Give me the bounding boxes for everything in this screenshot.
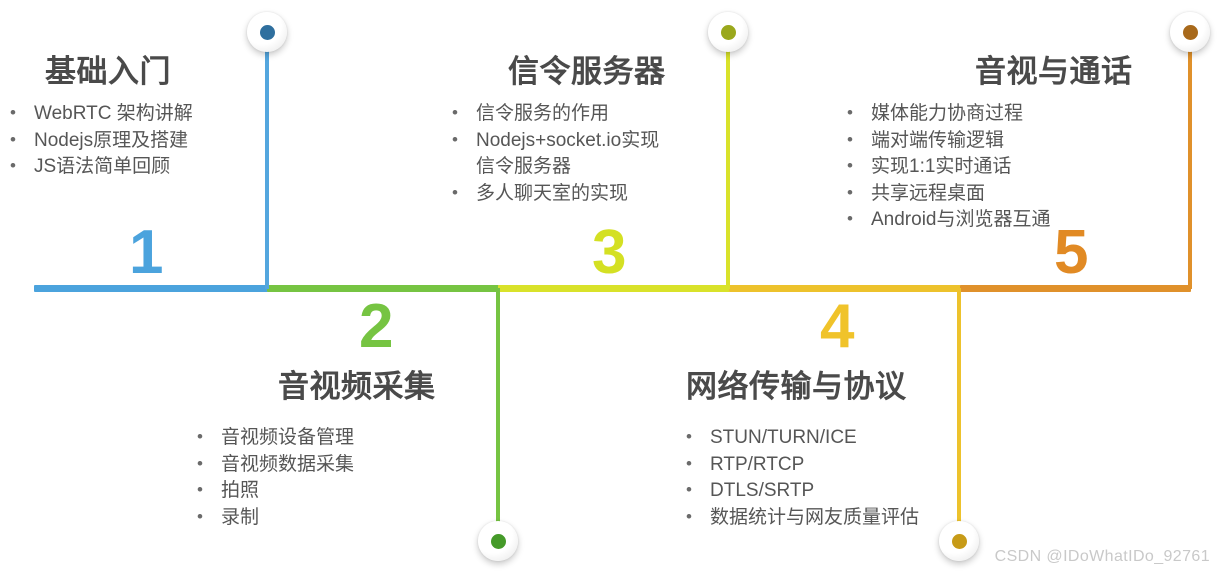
stage-title-2: 音视频采集 (278, 361, 436, 406)
connector-line-4 (957, 288, 961, 531)
stage-number-5: 5 (1054, 222, 1088, 284)
bullet-item: 音视频数据采集 (195, 452, 354, 479)
timeline-infographic: 基础入门 WebRTC 架构讲解 Nodejs原理及搭建 JS语法简单回顾 1 … (0, 0, 1218, 572)
bullet-item: WebRTC 架构讲解 (8, 101, 193, 128)
node-marker-1[interactable] (247, 12, 287, 52)
bullet-item: RTP/RTCP (684, 452, 919, 479)
connector-line-1 (265, 42, 269, 289)
node-marker-4[interactable] (939, 521, 979, 561)
bullet-item-continuation: 信令服务器 (450, 154, 659, 181)
bullet-item: 媒体能力协商过程 (845, 101, 1051, 128)
stage-title-5: 音视与通话 (975, 46, 1133, 91)
stage-bullets-2: 音视频设备管理 音视频数据采集 拍照 录制 (195, 425, 354, 531)
bullet-item: Nodejs+socket.io实现 (450, 128, 659, 155)
node-dot-5 (1183, 25, 1198, 40)
stage-number-4: 4 (820, 296, 854, 358)
bullet-item: 实现1:1实时通话 (845, 154, 1051, 181)
stage-title-3: 信令服务器 (508, 46, 666, 91)
bullet-item: STUN/TURN/ICE (684, 425, 919, 452)
stage-bullets-1: WebRTC 架构讲解 Nodejs原理及搭建 JS语法简单回顾 (8, 101, 193, 181)
watermark-text: CSDN @IDoWhatIDo_92761 (995, 548, 1210, 566)
bullet-item: Android与浏览器互通 (845, 207, 1051, 234)
bullet-item: Nodejs原理及搭建 (8, 128, 193, 155)
stage-bullets-5: 媒体能力协商过程 端对端传输逻辑 实现1:1实时通话 共享远程桌面 Androi… (845, 101, 1051, 234)
node-dot-2 (491, 534, 506, 549)
bullet-item: 数据统计与网友质量评估 (684, 505, 919, 532)
stage-bullets-4: STUN/TURN/ICE RTP/RTCP DTLS/SRTP 数据统计与网友… (684, 425, 919, 531)
bullet-item: JS语法简单回顾 (8, 154, 193, 181)
axis-segment-4 (729, 285, 961, 292)
bullet-item: 端对端传输逻辑 (845, 128, 1051, 155)
node-marker-2[interactable] (478, 521, 518, 561)
stage-number-2: 2 (359, 296, 393, 358)
stage-title-4: 网络传输与协议 (686, 361, 907, 406)
bullet-item: 多人聊天室的实现 (450, 181, 659, 208)
axis-segment-2 (267, 285, 499, 292)
stage-number-1: 1 (129, 222, 163, 284)
node-marker-3[interactable] (708, 12, 748, 52)
bullet-item: DTLS/SRTP (684, 478, 919, 505)
bullet-item: 音视频设备管理 (195, 425, 354, 452)
bullet-item: 共享远程桌面 (845, 181, 1051, 208)
connector-line-5 (1188, 42, 1192, 289)
stage-bullets-3: 信令服务的作用 Nodejs+socket.io实现 信令服务器 多人聊天室的实… (450, 101, 659, 207)
node-dot-3 (721, 25, 736, 40)
stage-title-1: 基础入门 (45, 46, 171, 91)
connector-line-2 (496, 288, 500, 531)
bullet-item: 信令服务的作用 (450, 101, 659, 128)
stage-number-3: 3 (592, 222, 626, 284)
node-dot-1 (260, 25, 275, 40)
bullet-item: 拍照 (195, 478, 354, 505)
bullet-item: 录制 (195, 505, 354, 532)
node-marker-5[interactable] (1170, 12, 1210, 52)
node-dot-4 (952, 534, 967, 549)
connector-line-3 (726, 42, 730, 289)
